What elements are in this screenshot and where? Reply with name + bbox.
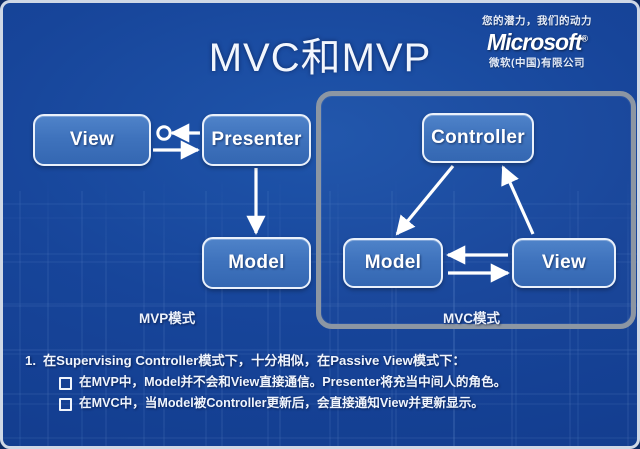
trademark-icon: ® — [581, 33, 587, 43]
note-lead-text: 在Supervising Controller模式下，十分相似，在Passive… — [43, 352, 466, 370]
note-sub-text: 在MVP中，Model并不会和View直接通信。Presenter将充当中间人的… — [79, 374, 506, 391]
note-number: 1. — [25, 352, 36, 370]
square-bullet-icon — [59, 377, 72, 390]
notes-list: 1. 在Supervising Controller模式下，十分相似，在Pass… — [25, 352, 623, 412]
microsoft-wordmark: Microsoft® — [453, 31, 621, 54]
brand-subsidiary: 微软(中国)有限公司 — [453, 55, 621, 70]
square-bullet-icon — [59, 398, 72, 411]
node-controller-mvc[interactable]: Controller — [422, 113, 534, 163]
caption-mvp: MVP模式 — [139, 307, 195, 327]
provided-interface-icon — [158, 127, 170, 139]
note-lead-row: 1. 在Supervising Controller模式下，十分相似，在Pass… — [25, 352, 623, 370]
microsoft-branding: 您的潜力，我们的动力 Microsoft® 微软(中国)有限公司 — [453, 13, 621, 70]
wordmark-text: Microsoft — [487, 29, 582, 55]
caption-mvc: MVC模式 — [443, 307, 500, 327]
node-model-mvp[interactable]: Model — [202, 237, 311, 289]
node-model-mvc[interactable]: Model — [343, 238, 443, 288]
note-sub-item: 在MVC中，当Model被Controller更新后，会直接通知View并更新显… — [59, 395, 623, 412]
slide: MVC和MVP 您的潜力，我们的动力 Microsoft® 微软(中国)有限公司 — [0, 0, 640, 449]
note-sub-text: 在MVC中，当Model被Controller更新后，会直接通知View并更新显… — [79, 395, 484, 412]
node-view-mvc[interactable]: View — [512, 238, 616, 288]
note-sub-item: 在MVP中，Model并不会和View直接通信。Presenter将充当中间人的… — [59, 374, 623, 391]
node-presenter[interactable]: Presenter — [202, 114, 311, 166]
brand-tagline: 您的潜力，我们的动力 — [453, 13, 621, 28]
node-view-mvp[interactable]: View — [33, 114, 151, 166]
